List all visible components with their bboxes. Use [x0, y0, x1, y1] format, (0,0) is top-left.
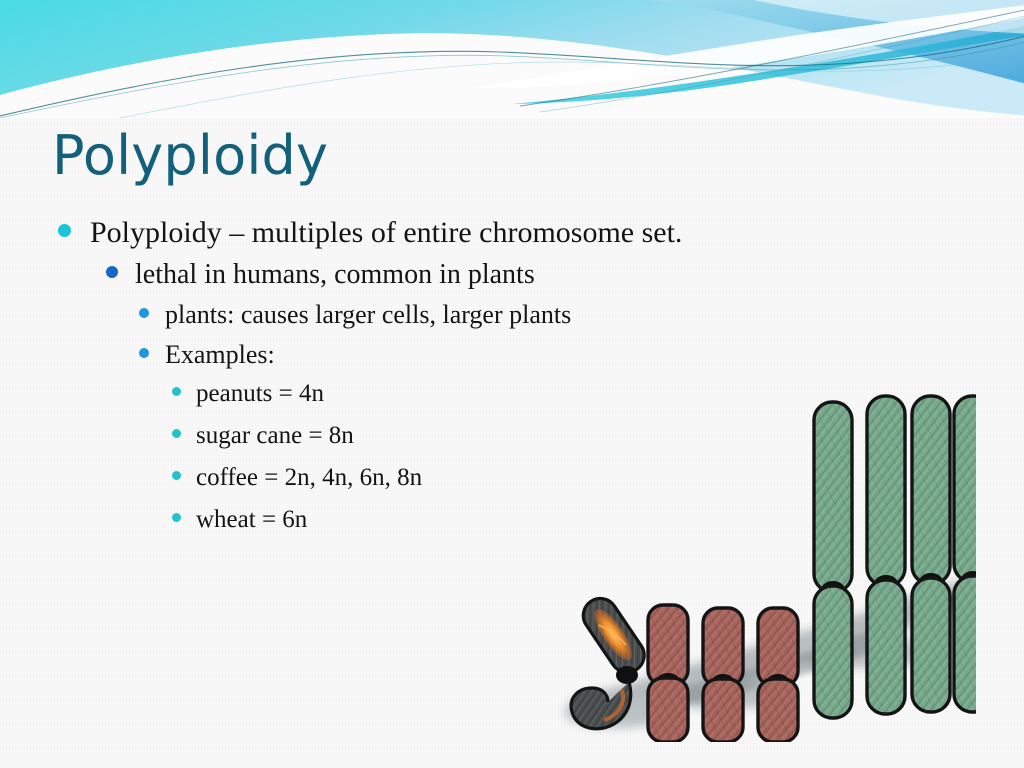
chromosome-red: [648, 605, 688, 742]
list-item-label: plants: causes larger cells, larger plan…: [165, 300, 571, 330]
chromosome-green: [912, 396, 950, 712]
list-item: plants: causes larger cells, larger plan…: [0, 300, 1024, 330]
bullet-dot-icon: [139, 308, 149, 318]
list-item-label: Examples:: [165, 340, 275, 370]
list-item: Examples:: [0, 340, 1024, 370]
bullet-dot-icon: [58, 224, 71, 237]
chromosome-red: [758, 608, 798, 742]
list-item: lethal in humans, common in plants: [0, 259, 1024, 291]
chromosome-red: [703, 608, 743, 742]
decorative-wave-banner: [0, 0, 1024, 118]
bullet-dot-icon: [172, 513, 181, 522]
list-item-label: coffee = 2n, 4n, 6n, 8n: [196, 464, 422, 492]
list-item-label: wheat = 6n: [196, 506, 307, 534]
list-item-label: sugar cane = 8n: [196, 422, 354, 450]
bullet-dot-icon: [139, 348, 149, 358]
chromosome-green: [814, 402, 852, 718]
slide-canvas: Polyploidy Polyploidy – multiples of ent…: [0, 0, 1024, 768]
chromosome-green: [867, 396, 905, 714]
list-item: Polyploidy – multiples of entire chromos…: [0, 216, 1024, 250]
list-item-label: Polyploidy – multiples of entire chromos…: [90, 216, 682, 250]
bullet-dot-icon: [172, 471, 181, 480]
page-title: Polyploidy: [52, 126, 328, 185]
chromosome-illustration: [556, 382, 976, 742]
list-item-label: lethal in humans, common in plants: [135, 259, 535, 291]
bullet-dot-icon: [172, 429, 181, 438]
chromosome-green: [954, 396, 976, 712]
bullet-dot-icon: [172, 387, 181, 396]
bullet-dot-icon: [106, 266, 118, 278]
list-item-label: peanuts = 4n: [196, 380, 324, 408]
